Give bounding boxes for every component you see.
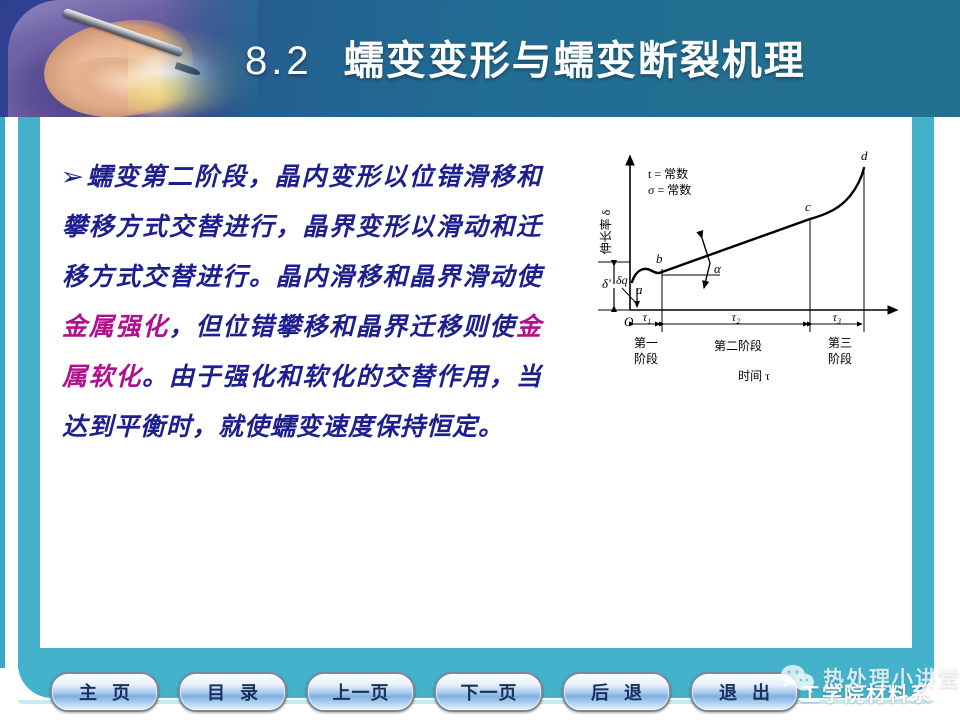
body-line-4a: 行。晶内滑移和晶界滑动使 <box>222 263 542 291</box>
slide-header: 8.2 蠕变变形与蠕变断裂机理 <box>0 0 960 117</box>
chart-alpha-arrow-up <box>702 238 710 263</box>
body-line-8: 蠕变速度保持恒定。 <box>270 413 504 441</box>
body-highlight-2: 强化 <box>115 313 168 341</box>
watermark-text: 热处理小讲堂 <box>823 663 960 693</box>
body-paragraph: ➢蠕变第二阶段，晶内变形以位错滑移和攀移方式交替进行，晶界变形以滑动和迁移方式交… <box>62 152 542 452</box>
chart-stage-label-3-line2: 阶段 <box>828 351 852 366</box>
next-page-button[interactable]: 下一页 <box>434 672 543 712</box>
chart-stage-label-3-line1: 第三 <box>828 336 852 350</box>
bullet-arrow-icon: ➢ <box>60 152 85 202</box>
chart-point-label-a: a <box>636 282 643 297</box>
body-highlight-1: 金属 <box>62 313 115 341</box>
body-line-6b: 。由于强化和软化的 <box>142 363 382 391</box>
body-line-1: 蠕变第二阶段，晶内变形以位 <box>86 163 436 191</box>
section-title: 蠕变变形与蠕变断裂机理 <box>344 39 806 83</box>
page-title: 8.2 蠕变变形与蠕变断裂机理 <box>245 30 945 92</box>
chart-stage-label-2: 第二阶段 <box>714 338 762 353</box>
creep-curve-svg: 伸长率 δ 时间 τ t = 常数 σ = 常数 a b c d O δ′ δq… <box>592 142 912 392</box>
prev-page-button[interactable]: 上一页 <box>306 672 415 712</box>
chart-point-label-b: b <box>656 251 663 266</box>
chart-angle-label-alpha: α <box>714 261 722 276</box>
chart-label-delta-prime: δ′ <box>602 276 611 291</box>
chart-origin-label: O <box>624 314 634 329</box>
body-line-5b: ，但位错攀移和晶界迁移则 <box>169 313 489 341</box>
chart-annotation-temperature: t = 常数 <box>648 166 688 181</box>
back-button[interactable]: 后 退 <box>562 672 671 712</box>
chart-segment-label-tau2: τ₂ <box>732 310 740 324</box>
home-button[interactable]: 主 页 <box>50 672 159 712</box>
wechat-icon <box>780 662 816 694</box>
creep-curve-figure: 伸长率 δ 时间 τ t = 常数 σ = 常数 a b c d O δ′ δq… <box>592 142 912 392</box>
frame-left-accent-band <box>18 108 40 668</box>
chart-y-axis-label: 伸长率 δ <box>598 209 613 254</box>
body-line-6a: 使 <box>489 313 516 341</box>
frame-right-accent-band <box>912 108 934 668</box>
chart-stage-label-1-line2: 阶段 <box>634 351 658 366</box>
chart-point-label-c: c <box>805 199 811 214</box>
chart-point-label-d: d <box>861 148 868 163</box>
chart-x-axis-label: 时间 τ <box>738 369 770 383</box>
chart-stage-label-1-line1: 第一 <box>634 336 658 350</box>
frame-left-accent-strip <box>0 108 5 668</box>
slide-canvas: 8.2 蠕变变形与蠕变断裂机理 ➢蠕变第二阶段，晶内变形以位错滑移和攀移方式交替… <box>0 0 960 720</box>
chart-label-delta-q: δq <box>616 273 628 287</box>
chart-segment-label-tau3: τ₃ <box>833 310 841 324</box>
contents-button[interactable]: 目 录 <box>178 672 287 712</box>
photo-fade-overlay <box>158 0 258 117</box>
chart-annotation-stress: σ = 常数 <box>648 182 691 197</box>
navigation-bar: 主 页 目 录 上一页 下一页 后 退 退 出 <box>50 672 799 712</box>
chart-segment-label-tau1: τ₁ <box>643 310 651 324</box>
header-photo <box>8 0 258 117</box>
section-number: 8.2 <box>245 39 313 83</box>
watermark: 热处理小讲堂 <box>780 662 960 694</box>
